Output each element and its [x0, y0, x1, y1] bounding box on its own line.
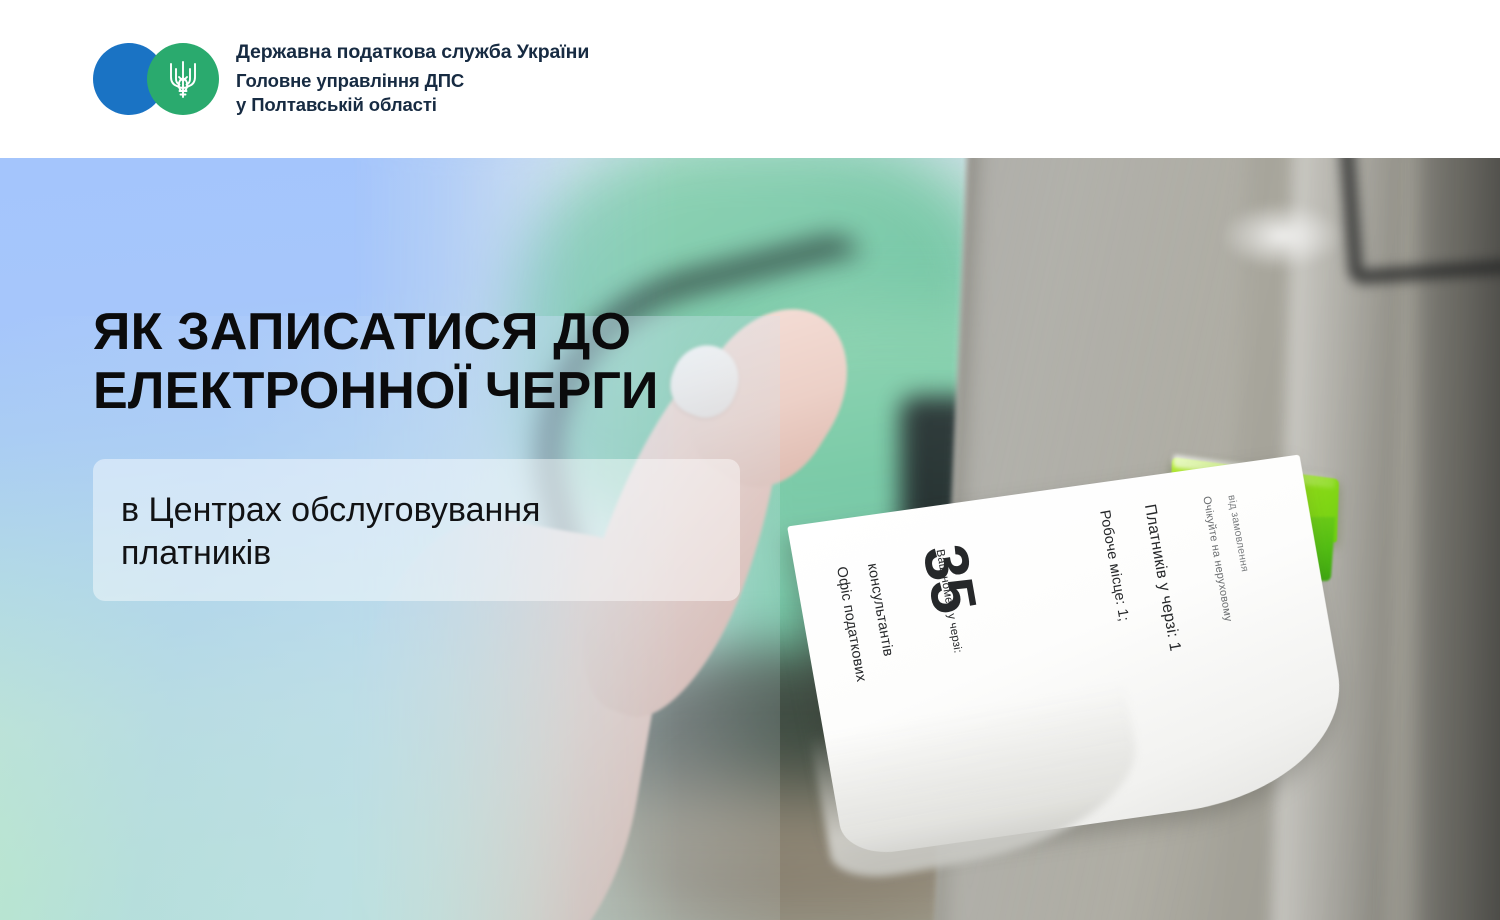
hero-subtitle-box: в Центрах обслуговування платників — [93, 459, 740, 601]
ticket-note-line2: від замовлення — [1226, 494, 1251, 573]
ukrainian-trident-icon — [166, 57, 200, 101]
hero-headline-line2: ЕЛЕКТРОННОЇ ЧЕРГИ — [93, 362, 659, 421]
organization-name: Державна податкова служба України Головн… — [236, 40, 589, 118]
org-title-line3: у Полтавській області — [236, 93, 589, 118]
ticket-office-line2: консультантів — [864, 563, 896, 659]
logo-marks — [93, 43, 219, 115]
hero-headline-line1: ЯК ЗАПИСАТИСЯ ДО — [93, 303, 659, 362]
site-header: Державна податкова служба України Головн… — [0, 0, 1500, 158]
ticket-workplace: Робоче місце: 1; — [1096, 510, 1131, 624]
organization-logo-block[interactable]: Державна податкова служба України Головн… — [93, 40, 589, 118]
ticket-queue-number: 35 — [909, 540, 991, 618]
org-title-line2: Головне управління ДПС — [236, 69, 589, 94]
ticket-queue-count: Платників у черзі: 1 — [1141, 503, 1185, 653]
org-title-line1: Державна податкова служба України — [236, 40, 589, 66]
hero-subtitle-line1: в Центрах обслуговування — [121, 489, 712, 532]
hero-headline: ЯК ЗАПИСАТИСЯ ДО ЕЛЕКТРОННОЇ ЧЕРГИ — [93, 303, 659, 421]
promo-banner-page: Державна податкова служба України Головн… — [0, 0, 1500, 920]
ticket-office-line1: Офіс податкових — [834, 566, 870, 684]
hero-subtitle: в Центрах обслуговування платників — [121, 489, 712, 575]
green-circle-mark — [147, 43, 219, 115]
hero-subtitle-line2: платників — [121, 532, 712, 575]
